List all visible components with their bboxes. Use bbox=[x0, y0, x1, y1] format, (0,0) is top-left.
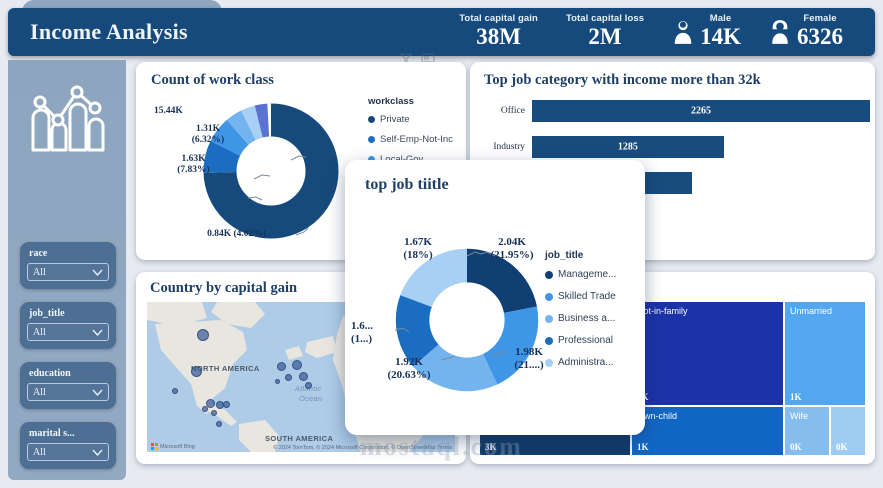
kpi-value: 14K bbox=[700, 25, 741, 49]
filter-marital-status[interactable]: marital s... All bbox=[20, 422, 116, 469]
popup-label-professional: 1.6... (1...) bbox=[351, 320, 393, 345]
map-label-ocean: Ocean bbox=[299, 394, 322, 403]
kpi-total-capital-gain[interactable]: Total capital gain 38M bbox=[445, 14, 552, 49]
card-title: Country by capital gain bbox=[150, 280, 297, 297]
job-title-dropdown[interactable]: All bbox=[27, 323, 109, 341]
popup-label-business: 1.92K (20.63%) bbox=[373, 356, 445, 381]
card-title: Count of work class bbox=[151, 72, 274, 89]
legend-label: Skilled Trade bbox=[558, 291, 616, 302]
map-data-point[interactable] bbox=[299, 372, 308, 381]
legend-label: Professional bbox=[558, 335, 613, 346]
legend-item-private[interactable]: Private bbox=[368, 114, 453, 125]
dashboard-header: Income Analysis Total capital gain 38M T… bbox=[8, 8, 875, 56]
kpi-total-capital-loss[interactable]: Total capital loss 2M bbox=[552, 14, 658, 49]
legend-item-professional[interactable]: Professional bbox=[545, 335, 616, 346]
chevron-down-icon[interactable] bbox=[92, 449, 103, 456]
legend-label: Manageme... bbox=[558, 269, 616, 280]
legend-label: Administra... bbox=[558, 357, 614, 368]
bar-value-label: 2265 bbox=[691, 106, 711, 117]
legend-label: Self-Emp-Not-Inc bbox=[380, 134, 453, 145]
legend-item-business[interactable]: Business a... bbox=[545, 313, 616, 324]
map-data-point[interactable] bbox=[197, 329, 209, 341]
filter-value: All bbox=[33, 447, 46, 458]
card-title: Top job category with income more than 3… bbox=[484, 72, 761, 89]
map-data-point[interactable] bbox=[211, 410, 217, 416]
legend-title: workclass bbox=[368, 96, 453, 107]
analytics-bar-line-chart-icon bbox=[29, 80, 105, 154]
legend-label: Private bbox=[380, 114, 410, 125]
filter-panel: race All job_title All educa bbox=[20, 242, 116, 482]
legend-swatch-icon bbox=[368, 136, 375, 143]
filter-job-title[interactable]: job_title All bbox=[20, 302, 116, 349]
chevron-down-icon[interactable] bbox=[92, 329, 103, 336]
kpi-male-count[interactable]: Male 14K bbox=[658, 14, 755, 49]
treemap-cell-label: Unmarried bbox=[790, 306, 832, 316]
popup-label-management: 2.04K (21.95%) bbox=[479, 236, 545, 261]
legend-item-skilled-trade[interactable]: Skilled Trade bbox=[545, 291, 616, 302]
bar-value-label: 1285 bbox=[618, 142, 638, 153]
filter-value: All bbox=[33, 387, 46, 398]
popup-legend: job_title Manageme... Skilled Trade Busi… bbox=[545, 250, 616, 379]
bar-row-industry[interactable]: Industry 1285 bbox=[480, 136, 870, 158]
treemap-cell-unmarried[interactable]: Unmarried 1K bbox=[785, 302, 865, 405]
filter-label: marital s... bbox=[27, 428, 109, 439]
treemap-cell-value: 1K bbox=[790, 392, 802, 402]
popup-label-administrative: 1.67K (18%) bbox=[385, 236, 451, 261]
legend-swatch-icon bbox=[545, 293, 553, 301]
workclass-label-local-gov: 1.31K (6.32%) bbox=[158, 124, 258, 146]
microsoft-squares-icon bbox=[151, 443, 158, 450]
legend-label: Business a... bbox=[558, 313, 615, 324]
map-data-point[interactable] bbox=[277, 362, 286, 371]
map-data-point[interactable] bbox=[305, 382, 312, 389]
marital-status-dropdown[interactable]: All bbox=[27, 443, 109, 461]
treemap-cell-own-child[interactable]: Own-child 1K bbox=[632, 407, 783, 455]
bar-fill[interactable]: 2265 bbox=[532, 100, 870, 122]
legend-swatch-icon bbox=[545, 271, 553, 279]
kpi-group: Total capital gain 38M Total capital los… bbox=[445, 14, 857, 49]
dashboard-root: Income Analysis Total capital gain 38M T… bbox=[0, 0, 883, 488]
filter-label: race bbox=[27, 248, 109, 259]
workclass-label-state-gov: 15.44K bbox=[154, 106, 289, 117]
filter-label: education bbox=[27, 368, 109, 379]
kpi-label: Total capital loss bbox=[566, 14, 644, 24]
legend-swatch-icon bbox=[368, 116, 375, 123]
legend-item-management[interactable]: Manageme... bbox=[545, 269, 616, 280]
chevron-down-icon[interactable] bbox=[92, 389, 103, 396]
kpi-female-count[interactable]: Female 6326 bbox=[755, 14, 857, 49]
bar-fill[interactable]: 1285 bbox=[532, 136, 724, 158]
bar-row-office[interactable]: Office 2265 bbox=[480, 100, 870, 122]
legend-item-self-emp-not-inc[interactable]: Self-Emp-Not-Inc bbox=[368, 134, 453, 145]
filter-education[interactable]: education All bbox=[20, 362, 116, 409]
kpi-label: Total capital gain bbox=[459, 14, 538, 24]
map-data-point[interactable] bbox=[292, 360, 302, 370]
education-dropdown[interactable]: All bbox=[27, 383, 109, 401]
legend-item-administrative[interactable]: Administra... bbox=[545, 357, 616, 368]
popup-title: top job tiitle bbox=[365, 176, 449, 194]
treemap-cell-wife[interactable]: Wife 0K bbox=[785, 407, 829, 455]
bar-category-label: Office bbox=[480, 106, 532, 116]
treemap-cell-value: 0K bbox=[836, 442, 848, 452]
filter-race[interactable]: race All bbox=[20, 242, 116, 289]
map-data-point[interactable] bbox=[202, 406, 208, 412]
treemap-cell-value: 3K bbox=[485, 442, 497, 452]
workclass-label-self-emp-not-inc: 1.63K (7.83%) bbox=[146, 154, 241, 176]
bar-category-label: Industry bbox=[480, 142, 532, 152]
treemap-cell-not-in-family[interactable]: Not-in-family 1K bbox=[632, 302, 783, 405]
map-data-point[interactable] bbox=[172, 388, 178, 394]
treemap-cell-other-relative[interactable]: 0K bbox=[831, 407, 865, 455]
kpi-value: 6326 bbox=[797, 25, 843, 49]
sidebar-logo bbox=[8, 80, 126, 154]
map-data-point[interactable] bbox=[275, 379, 280, 384]
legend-swatch-icon bbox=[545, 315, 553, 323]
treemap-cell-value: 0K bbox=[790, 442, 802, 452]
page-title: Income Analysis bbox=[30, 19, 188, 45]
map-data-point[interactable] bbox=[216, 421, 222, 427]
kpi-value: 38M bbox=[459, 25, 538, 49]
kpi-label: Female bbox=[797, 14, 843, 24]
female-person-icon bbox=[769, 19, 791, 45]
race-dropdown[interactable]: All bbox=[27, 263, 109, 281]
map-attribution: © 2024 TomTom, © 2024 Microsoft Corporat… bbox=[273, 445, 452, 451]
kpi-value: 2M bbox=[566, 25, 644, 49]
map-label-south-america: SOUTH AMERICA bbox=[265, 434, 333, 443]
filter-value: All bbox=[33, 327, 46, 338]
chevron-down-icon[interactable] bbox=[92, 269, 103, 276]
map-data-point[interactable] bbox=[191, 366, 202, 377]
legend-title: job_title bbox=[545, 250, 616, 261]
filter-value: All bbox=[33, 267, 46, 278]
popup-top-job-title[interactable]: top job tiitle 1.67K (18%) 2.04K (21.95%… bbox=[345, 160, 645, 435]
filter-label: job_title bbox=[27, 308, 109, 319]
legend-swatch-icon bbox=[545, 337, 553, 345]
treemap-cell-value: 1K bbox=[637, 442, 649, 452]
sidebar: race All job_title All educa bbox=[8, 60, 126, 480]
male-person-icon bbox=[672, 19, 694, 45]
bing-label: Microsoft Bing bbox=[160, 444, 195, 450]
microsoft-bing-logo: Microsoft Bing bbox=[151, 443, 195, 450]
kpi-label: Male bbox=[700, 14, 741, 24]
treemap-cell-label: Wife bbox=[790, 411, 808, 421]
workclass-label-private: 0.84K (4.02%) bbox=[184, 229, 289, 240]
map-data-point[interactable] bbox=[285, 374, 292, 381]
map-data-point[interactable] bbox=[223, 401, 230, 408]
legend-swatch-icon bbox=[545, 359, 553, 367]
